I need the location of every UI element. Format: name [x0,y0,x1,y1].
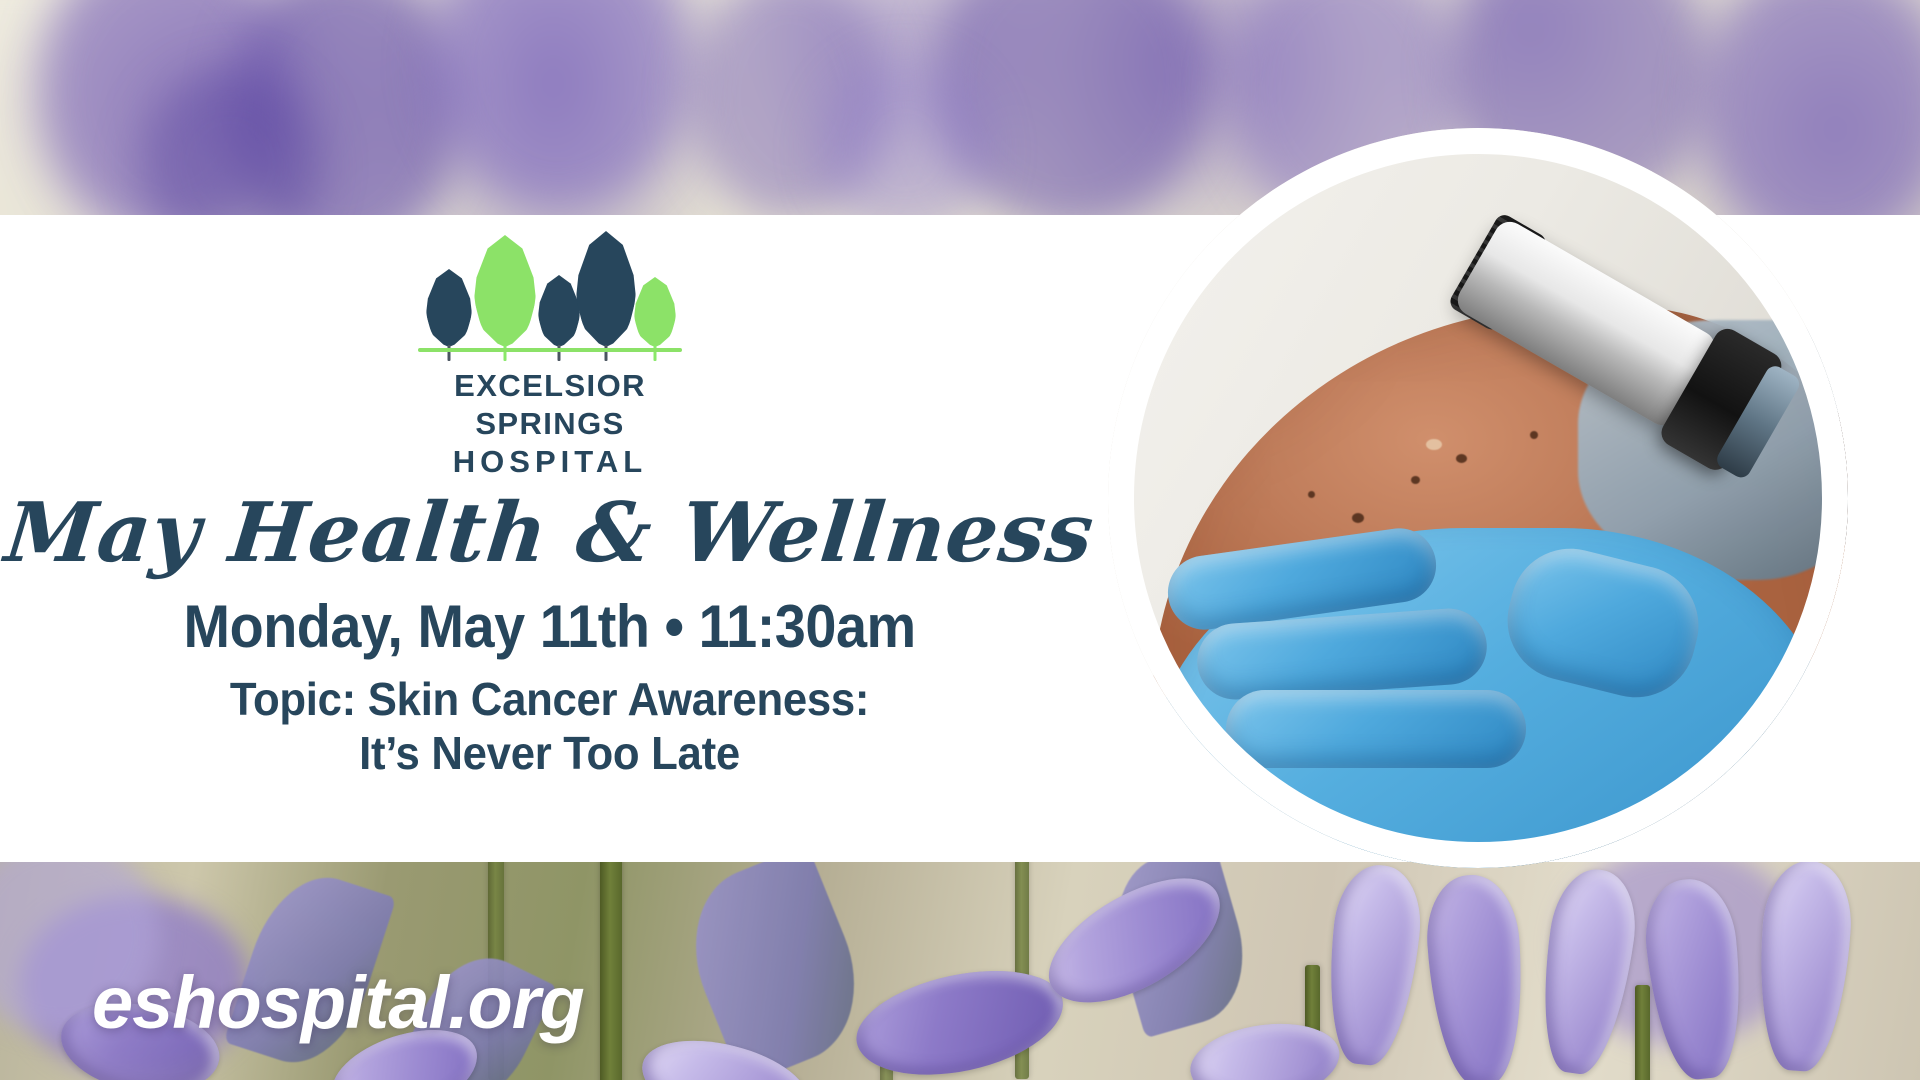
website-url[interactable]: eshospital.org [92,960,584,1045]
blurred-flower-blob [820,60,990,240]
leaf-navy-3 [576,231,636,347]
bluebell-flower [847,954,1072,1080]
bluebell-flower [1423,872,1529,1080]
leaf-green-2 [634,277,676,347]
bluebell-flower [1531,864,1643,1079]
flyer-content: EXCELSIOR SPRINGS HOSPITAL May Health & … [0,215,1100,862]
leaf-navy-1 [426,269,472,347]
logo-ground-line [418,348,682,352]
leaf-green-1 [474,235,536,347]
event-topic-line1: Topic: Skin Cancer Awareness: [230,672,869,726]
event-date-time: Monday, May 11th • 11:30am [184,595,916,658]
photo-white-ring [1108,128,1848,868]
dermatoscope-skin-exam-photo [1108,128,1848,868]
event-topic-line2: It’s Never Too Late [230,726,869,780]
hospital-name: EXCELSIOR SPRINGS HOSPITAL [385,367,715,480]
hospital-name-line2: HOSPITAL [385,443,715,481]
hospital-name-line1: EXCELSIOR SPRINGS [385,367,715,443]
five-leaf-tree-logo [418,237,682,361]
event-topic: Topic: Skin Cancer Awareness: It’s Never… [230,672,869,781]
bluebell-flower [1185,1015,1344,1080]
leaf-navy-2 [538,275,580,347]
headline-script: May Health & Wellness [2,490,1099,576]
hospital-logo: EXCELSIOR SPRINGS HOSPITAL [385,237,715,480]
flower-stem [600,855,622,1080]
flower-stem [1635,985,1650,1080]
bluebell-flower [1320,861,1426,1069]
